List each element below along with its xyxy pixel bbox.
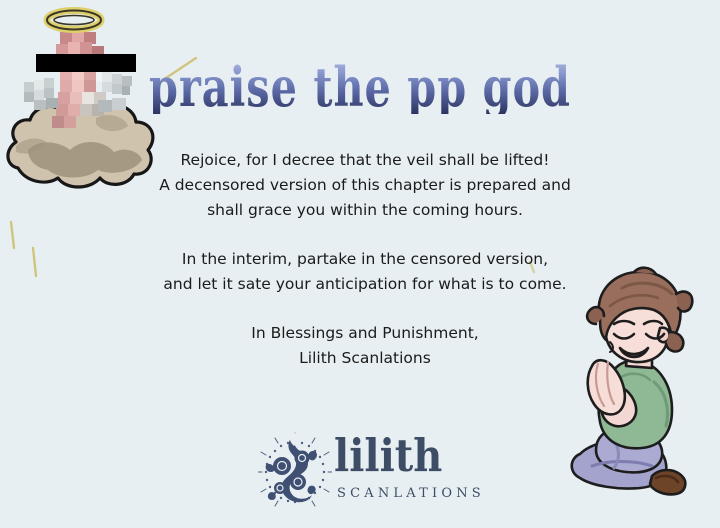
paragraph-1-line-2: A decensored version of this chapter is … <box>120 173 610 198</box>
paragraph-1-line-1: Rejoice, for I decree that the veil shal… <box>120 148 610 173</box>
paragraph-2-line-1: In the interim, partake in the censored … <box>120 247 610 272</box>
poster-title-container: praise the pp god <box>160 58 560 116</box>
paragraph-spacer-2 <box>120 297 610 321</box>
logo-wordmark: lilith <box>334 434 485 479</box>
poster-canvas: praise the pp god Rejoice, for I decree … <box>0 0 720 528</box>
lilith-scanlations-logo: lilith SCANLATIONS <box>258 428 468 512</box>
paragraph-1-line-3: shall grace you within the coming hours. <box>120 198 610 223</box>
sparkle-stroke-left-a <box>11 222 14 248</box>
halo <box>47 11 101 30</box>
announcement-body: Rejoice, for I decree that the veil shal… <box>120 148 610 371</box>
signoff-line-2: Lilith Scanlations <box>120 346 610 371</box>
logo-subtitle: SCANLATIONS <box>337 486 485 501</box>
paragraph-2-line-2: and let it sate your anticipation for wh… <box>120 272 610 297</box>
serpent-and-roses-emblem <box>258 430 332 510</box>
page-title: praise the pp god <box>149 60 571 114</box>
signoff-line-1: In Blessings and Punishment, <box>120 321 610 346</box>
sparkle-stroke-left-b <box>33 248 36 276</box>
paragraph-spacer-1 <box>120 223 610 247</box>
censor-bar <box>36 54 136 72</box>
logo-wordmark-block: lilith SCANLATIONS <box>334 439 485 501</box>
